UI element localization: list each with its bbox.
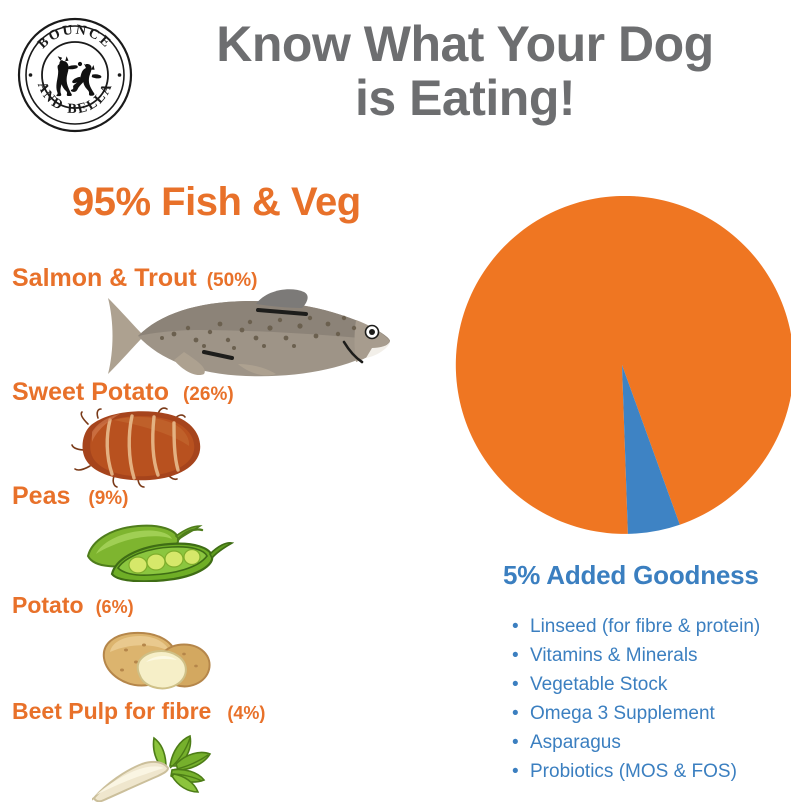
added-goodness-list: • Linseed (for fibre & protein) • Vitami…	[512, 612, 792, 786]
brand-logo: BOUNCE AND BELLA	[16, 16, 134, 134]
ingredient-label: Beet Pulp for fibre	[12, 698, 211, 725]
ingredient-label: Potato	[12, 592, 84, 619]
ingredient-percent: (9%)	[88, 488, 128, 510]
bullet-icon: •	[512, 757, 519, 786]
bullet-icon: •	[512, 699, 519, 728]
bounce-and-bella-emblem-icon: BOUNCE AND BELLA	[16, 16, 134, 134]
potato-illustration	[96, 628, 222, 697]
list-item: • Omega 3 Supplement	[512, 699, 792, 728]
ingredient-percent: (26%)	[183, 384, 234, 406]
page-title: Know What Your Dog is Eating!	[150, 18, 780, 125]
fish-and-veg-heading: 95% Fish & Veg	[72, 180, 361, 225]
list-item-label: Probiotics (MOS & FOS)	[530, 761, 737, 782]
pie-svg	[453, 196, 791, 534]
ingredient-heading: Sweet Potato(26%)	[12, 378, 234, 407]
bullet-icon: •	[512, 728, 519, 757]
page-title-line1: Know What Your Dog	[150, 18, 780, 72]
ingredient-percent: (6%)	[96, 597, 134, 618]
list-item: • Vegetable Stock	[512, 670, 792, 699]
sugar-beet-illustration	[92, 732, 242, 807]
list-item: • Vitamins & Minerals	[512, 641, 792, 670]
ingredient-sweet-potato: Sweet Potato(26%)	[12, 378, 234, 407]
ingredient-potato: Potato(6%)	[12, 592, 134, 619]
peas-illustration	[78, 512, 234, 587]
bullet-icon: •	[512, 670, 519, 699]
ball-icon	[78, 62, 82, 66]
list-item: • Probiotics (MOS & FOS)	[512, 757, 792, 786]
list-item-label: Vegetable Stock	[530, 674, 667, 695]
list-item: • Asparagus	[512, 728, 792, 757]
ingredient-label: Peas	[12, 482, 70, 511]
ingredient-heading: Potato(6%)	[12, 592, 134, 619]
ingredient-heading: Peas(9%)	[12, 482, 129, 511]
added-goodness-heading: 5% Added Goodness	[503, 560, 759, 591]
infographic-canvas: BOUNCE AND BELLA Know	[0, 0, 800, 800]
ingredient-heading: Beet Pulp for fibre(4%)	[12, 698, 265, 725]
list-item-label: Vitamins & Minerals	[530, 645, 698, 666]
list-item-label: Omega 3 Supplement	[530, 703, 715, 724]
pie-slice-fish-and-veg	[456, 196, 791, 534]
bullet-icon: •	[512, 641, 519, 670]
ingredient-percent: (4%)	[227, 703, 265, 724]
ingredient-peas: Peas(9%)	[12, 482, 129, 511]
ingredient-label: Sweet Potato	[12, 378, 169, 407]
composition-pie-chart	[453, 196, 791, 534]
page-title-line2: is Eating!	[150, 72, 780, 126]
trout-illustration	[104, 288, 404, 389]
bullet-icon: •	[512, 612, 519, 641]
sweet-potato-illustration	[62, 404, 222, 493]
list-item-label: Linseed (for fibre & protein)	[530, 616, 760, 637]
list-item-label: Asparagus	[530, 732, 621, 753]
list-item: • Linseed (for fibre & protein)	[512, 612, 792, 641]
ingredient-beet-pulp: Beet Pulp for fibre(4%)	[12, 698, 265, 725]
